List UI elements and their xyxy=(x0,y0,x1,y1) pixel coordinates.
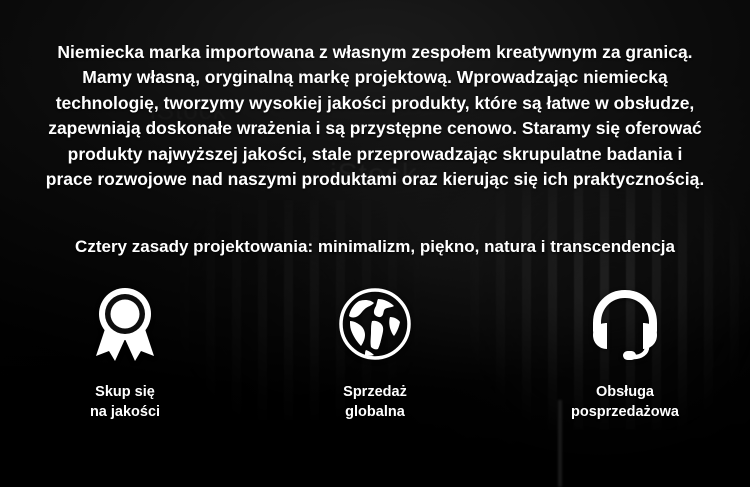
feature-label-after-sales-line2: posprzedażowa xyxy=(571,402,679,422)
feature-item-after-sales: Obsługa posprzedażowa xyxy=(500,286,750,422)
design-principles-line: Cztery zasady projektowania: minimalizm,… xyxy=(35,236,715,258)
feature-label-global-sales-line2: globalna xyxy=(343,402,407,422)
feature-label-after-sales: Obsługa posprzedażowa xyxy=(571,382,679,422)
feature-item-global-sales: Sprzedaż globalna xyxy=(250,286,500,422)
brand-info-banner: iStock iStock Niemiecka marka importowan… xyxy=(0,0,750,487)
feature-list: Skup się na jakości xyxy=(0,286,750,422)
award-ribbon-icon xyxy=(87,286,163,362)
feature-label-quality-line2: na jakości xyxy=(90,402,160,422)
feature-label-quality: Skup się na jakości xyxy=(90,382,160,422)
intro-paragraph: Niemiecka marka importowana z własnym ze… xyxy=(44,40,706,193)
feature-label-global-sales-line1: Sprzedaż xyxy=(343,384,407,400)
feature-item-quality: Skup się na jakości xyxy=(0,286,250,422)
headset-icon xyxy=(587,286,663,362)
banner-content: Niemiecka marka importowana z własnym ze… xyxy=(0,0,750,487)
globe-icon xyxy=(337,286,413,362)
feature-label-global-sales: Sprzedaż globalna xyxy=(343,382,407,422)
feature-label-quality-line1: Skup się xyxy=(95,384,155,400)
feature-label-after-sales-line1: Obsługa xyxy=(596,384,654,400)
